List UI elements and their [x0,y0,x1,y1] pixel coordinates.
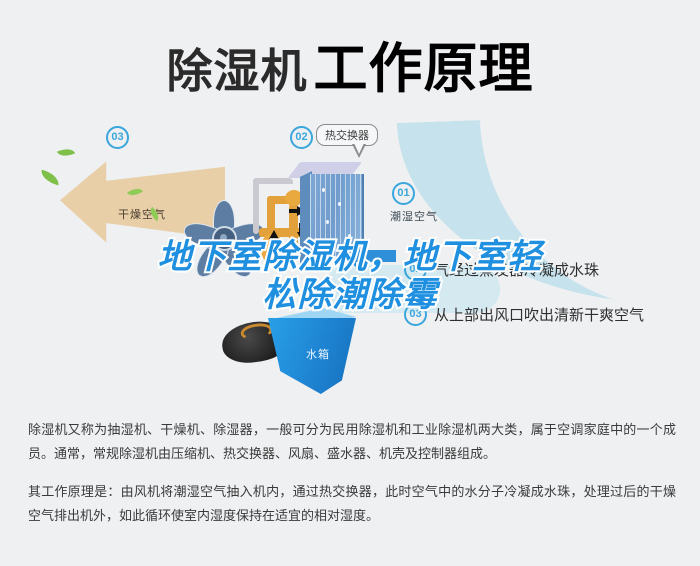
humid-air-label: 潮湿空气 [390,208,438,224]
body-paragraph-2: 其工作原理是：由风机将潮湿空气抽入机内，通过热交换器，此时空气中的水分子冷凝成水… [28,480,676,528]
condensation-droplet [326,220,329,224]
leaf-icon [39,170,61,186]
infographic-page: 除湿机工作原理 干燥空气 [0,0,700,566]
callout-pointer-icon [352,144,366,158]
page-title-part1: 除湿机 [167,45,308,97]
callout-badge-02: 02 [290,126,313,149]
callout-badge-03: 03 [106,126,129,149]
condensation-droplet [338,202,341,206]
pipe-segment [253,178,293,184]
water-tank-label: 水箱 [306,346,330,362]
page-title-part2: 工作原理 [314,39,534,99]
body-paragraph-1: 除湿机又称为抽湿机、干燥机、除湿器，一般可分为民用除湿机和工业除湿机两大类，属于… [28,418,676,466]
callout-badge-01: 01 [392,182,415,205]
body-copy: 除湿机又称为抽湿机、干燥机、除湿器，一般可分为民用除湿机和工业除湿机两大类，属于… [28,418,676,528]
watermark-overlay: 地下室除湿机，地下室轻 松除潮除霉 [0,238,700,314]
leaf-icon [57,145,75,160]
dry-air-label: 干燥空气 [118,206,166,222]
page-title: 除湿机工作原理 [0,24,700,103]
watermark-line-1: 地下室除湿机，地下室轻 [0,238,700,276]
pipe-segment [253,178,259,234]
condensation-droplet [322,188,325,192]
watermark-line-2: 松除潮除霉 [0,276,700,314]
heat-exchanger-callout-label: 热交换器 [316,124,378,146]
